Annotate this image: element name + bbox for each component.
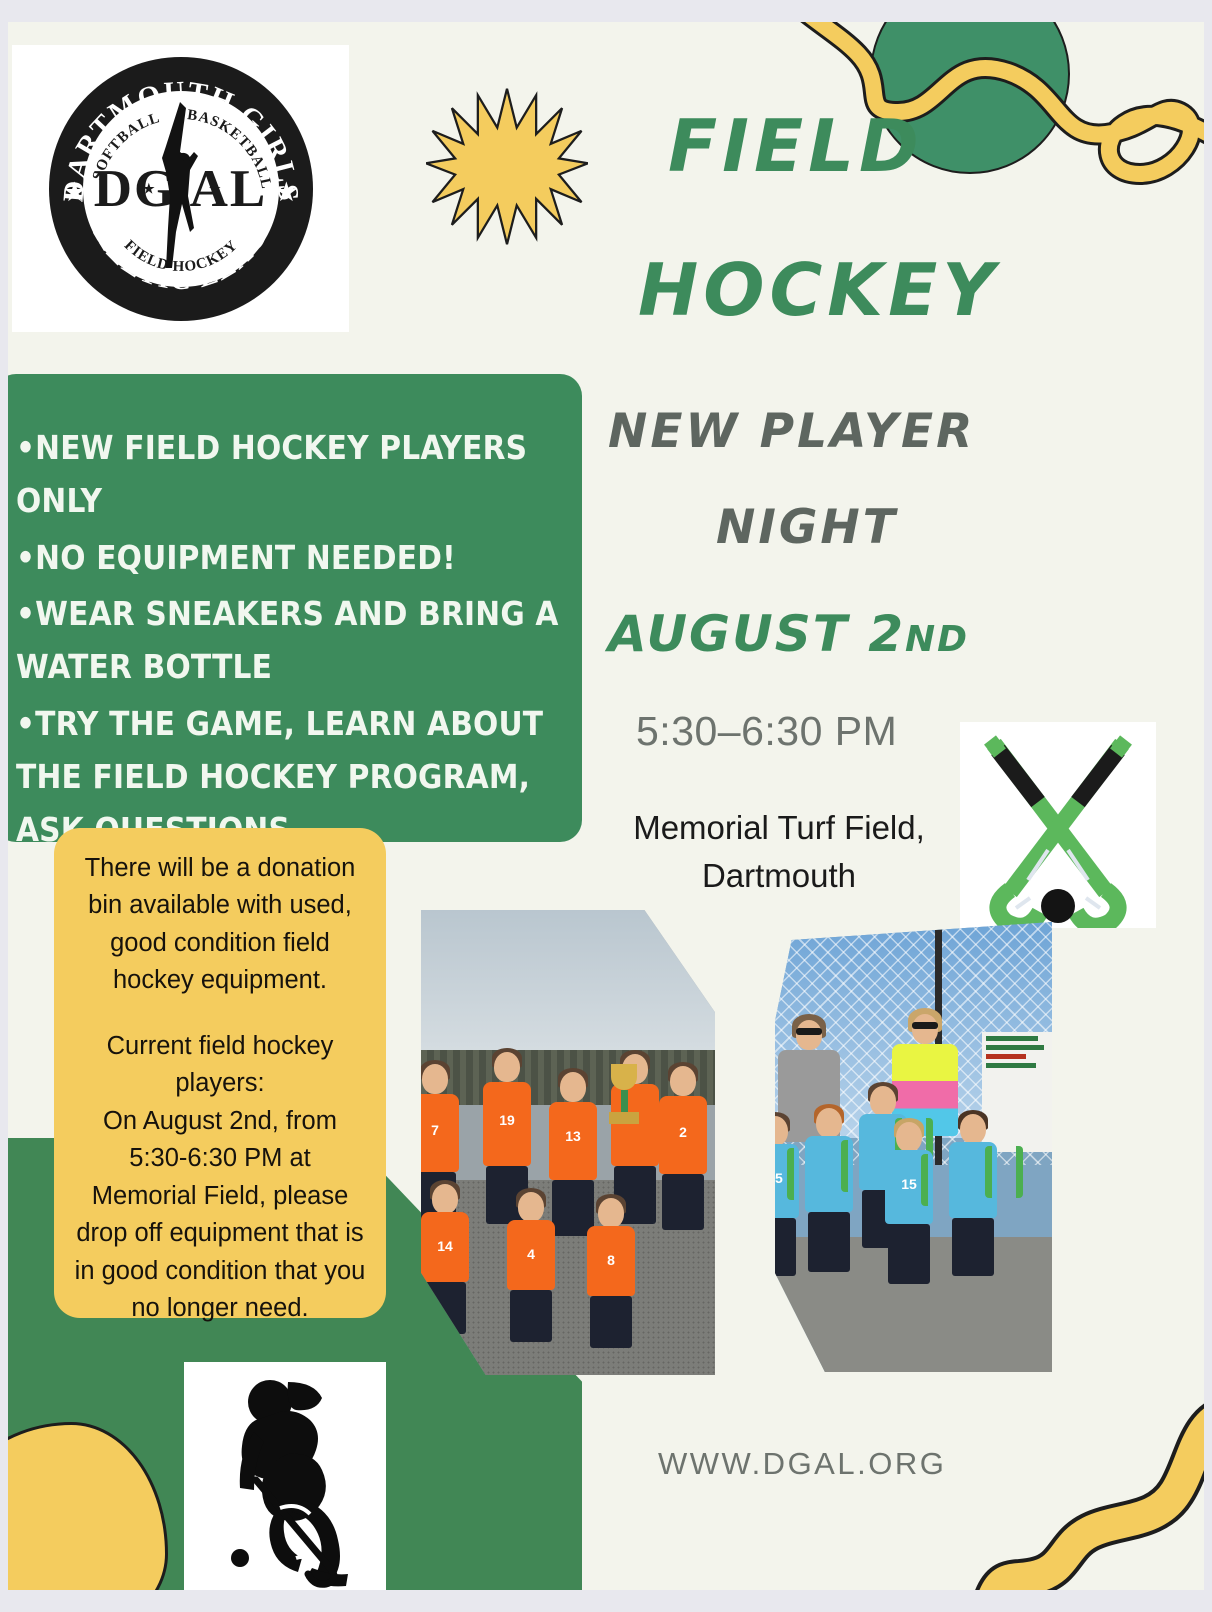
dgal-seal-icon: DARTMOUTH GIRLS ATHLETIC LEAGUE SOFTBALL xyxy=(49,57,313,321)
bullet-item: •WEAR SNEAKERS AND BRING A WATER BOTTLE xyxy=(16,588,574,694)
athlete-silhouette-icon xyxy=(136,100,226,278)
team-photo-orange-jerseys-trophy: 7 19 13 2 xyxy=(421,910,715,1375)
yellow-blob-shape xyxy=(8,1422,168,1590)
flyer-poster: DARTMOUTH GIRLS ATHLETIC LEAGUE SOFTBALL xyxy=(8,22,1204,1590)
bullet-item: •NO EQUIPMENT NEEDED! xyxy=(16,532,574,585)
donation-paragraph-1: There will be a donation bin available w… xyxy=(74,850,366,1000)
field-hockey-player-silhouette-icon xyxy=(184,1362,386,1590)
donation-info-panel: There will be a donation bin available w… xyxy=(54,828,386,1318)
bullet-item: •NEW FIELD HOCKEY PLAYERS ONLY xyxy=(16,422,574,528)
crossed-field-hockey-sticks-icon xyxy=(960,722,1156,928)
event-time: 5:30–6:30 PM xyxy=(636,708,897,755)
dgal-logo-card: DARTMOUTH GIRLS ATHLETIC LEAGUE SOFTBALL xyxy=(12,45,349,332)
sun-starburst-icon xyxy=(426,84,588,249)
donation-paragraph-3: On August 2nd, from 5:30-6:30 PM at Memo… xyxy=(74,1103,366,1328)
yellow-squiggle-line-bottom xyxy=(968,1362,1204,1590)
subheadline-line-2: NIGHT xyxy=(716,500,898,555)
team-photo-blue-jerseys-medals: 15 15 xyxy=(775,922,1052,1372)
crossed-sticks-card xyxy=(960,722,1156,928)
sponsor-signboard xyxy=(982,1032,1052,1152)
event-venue: Memorial Turf Field, Dartmouth xyxy=(604,804,954,900)
event-date-text: AUGUST 2 xyxy=(608,605,905,663)
sunglasses-icon xyxy=(912,1022,938,1029)
subheadline-line-1: NEW PLAYER xyxy=(608,404,975,459)
trophy-icon xyxy=(611,1064,637,1124)
donation-paragraph-2: Current field hockey players: xyxy=(74,1028,366,1103)
event-date-ordinal: ND xyxy=(905,619,969,660)
event-date: AUGUST 2ND xyxy=(608,605,969,663)
website-url: WWW.DGAL.ORG xyxy=(658,1446,946,1482)
seal-star-right: ★ xyxy=(274,179,298,206)
headline-line-1: FIELD xyxy=(668,104,924,188)
bullet-list: •NEW FIELD HOCKEY PLAYERS ONLY •NO EQUIP… xyxy=(16,422,574,860)
info-bullet-panel: •NEW FIELD HOCKEY PLAYERS ONLY •NO EQUIP… xyxy=(8,374,582,842)
sunglasses-icon xyxy=(796,1028,822,1035)
player-silhouette-card xyxy=(184,1362,386,1590)
seal-star-left: ★ xyxy=(63,179,87,206)
headline-line-2: HOCKEY xyxy=(638,248,999,332)
donation-spacer xyxy=(74,1000,366,1028)
